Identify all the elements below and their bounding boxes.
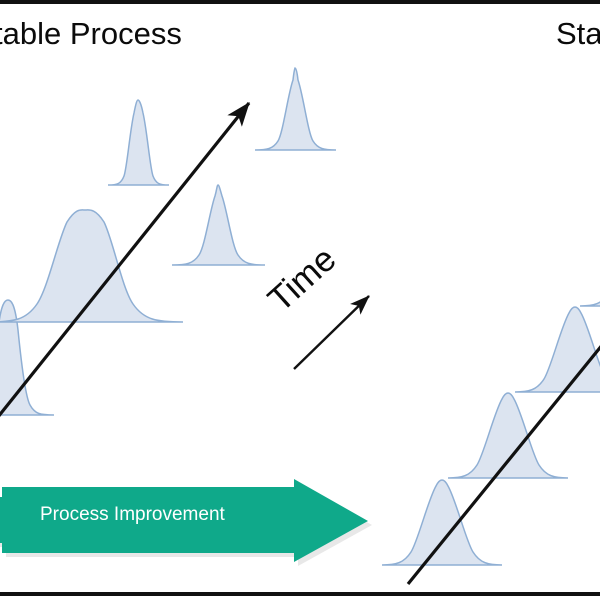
- left-panel-title: table Process: [0, 18, 182, 49]
- process-improvement-label: Process Improvement: [40, 505, 225, 524]
- bottom-edge-bar: [0, 592, 600, 596]
- right-panel-title: Sta: [556, 18, 600, 49]
- diagram-canvas: table Process Sta Time Process Improveme…: [0, 0, 600, 600]
